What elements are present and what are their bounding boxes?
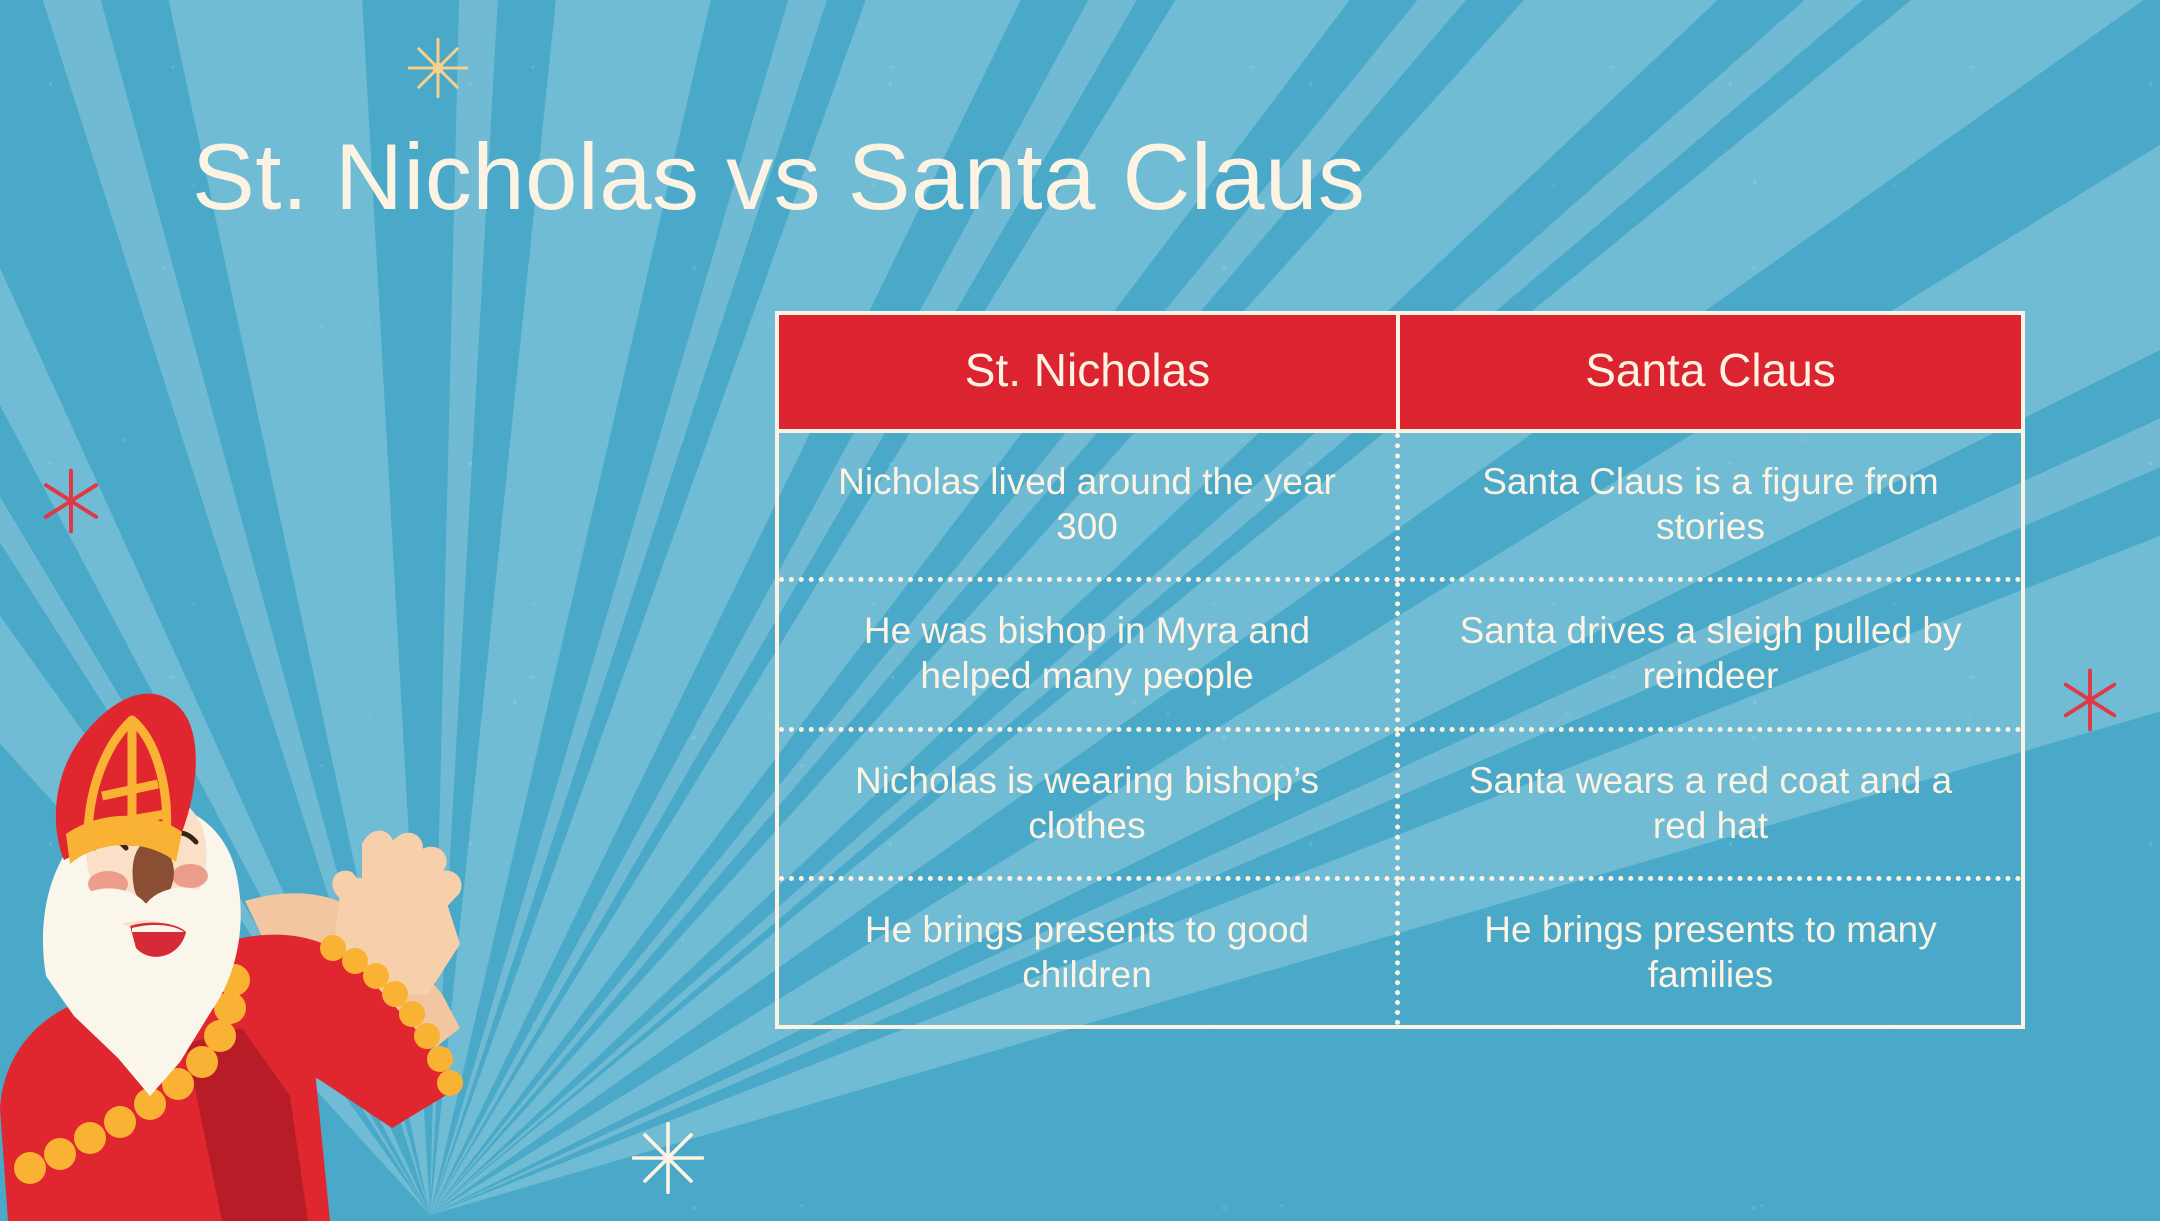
table-row: He brings presents to good children He b… bbox=[779, 881, 2021, 1025]
table-row: He was bishop in Myra and helped many pe… bbox=[779, 582, 2021, 731]
table-header-st-nicholas: St. Nicholas bbox=[779, 315, 1400, 433]
cell-nicholas-3: Nicholas is wearing bishop’s clothes bbox=[779, 732, 1400, 881]
cell-santa-2: Santa drives a sleigh pulled by reindeer bbox=[1400, 582, 2021, 731]
table-row: Nicholas is wearing bishop’s clothes San… bbox=[779, 732, 2021, 881]
comparison-table: St. Nicholas Santa Claus Nicholas lived … bbox=[775, 311, 2025, 1029]
sparkle-red-left-icon bbox=[38, 468, 104, 534]
cell-santa-3: Santa wears a red coat and a red hat bbox=[1400, 732, 2021, 881]
table-header-santa-claus: Santa Claus bbox=[1400, 315, 2021, 433]
st-nicholas-illustration bbox=[0, 676, 530, 1221]
cell-nicholas-1: Nicholas lived around the year 300 bbox=[779, 433, 1400, 582]
cell-nicholas-4: He brings presents to good children bbox=[779, 881, 1400, 1025]
cell-santa-4: He brings presents to many families bbox=[1400, 881, 2021, 1025]
page-title: St. Nicholas vs Santa Claus bbox=[192, 128, 1365, 227]
sparkle-white-bottom-icon bbox=[632, 1122, 704, 1194]
table-row: Nicholas lived around the year 300 Santa… bbox=[779, 433, 2021, 582]
sparkle-red-right-icon bbox=[2058, 668, 2122, 732]
table-header-row: St. Nicholas Santa Claus bbox=[779, 315, 2021, 433]
cell-santa-1: Santa Claus is a figure from stories bbox=[1400, 433, 2021, 582]
cell-nicholas-2: He was bishop in Myra and helped many pe… bbox=[779, 582, 1400, 731]
sparkle-gold-top-icon bbox=[408, 38, 468, 98]
